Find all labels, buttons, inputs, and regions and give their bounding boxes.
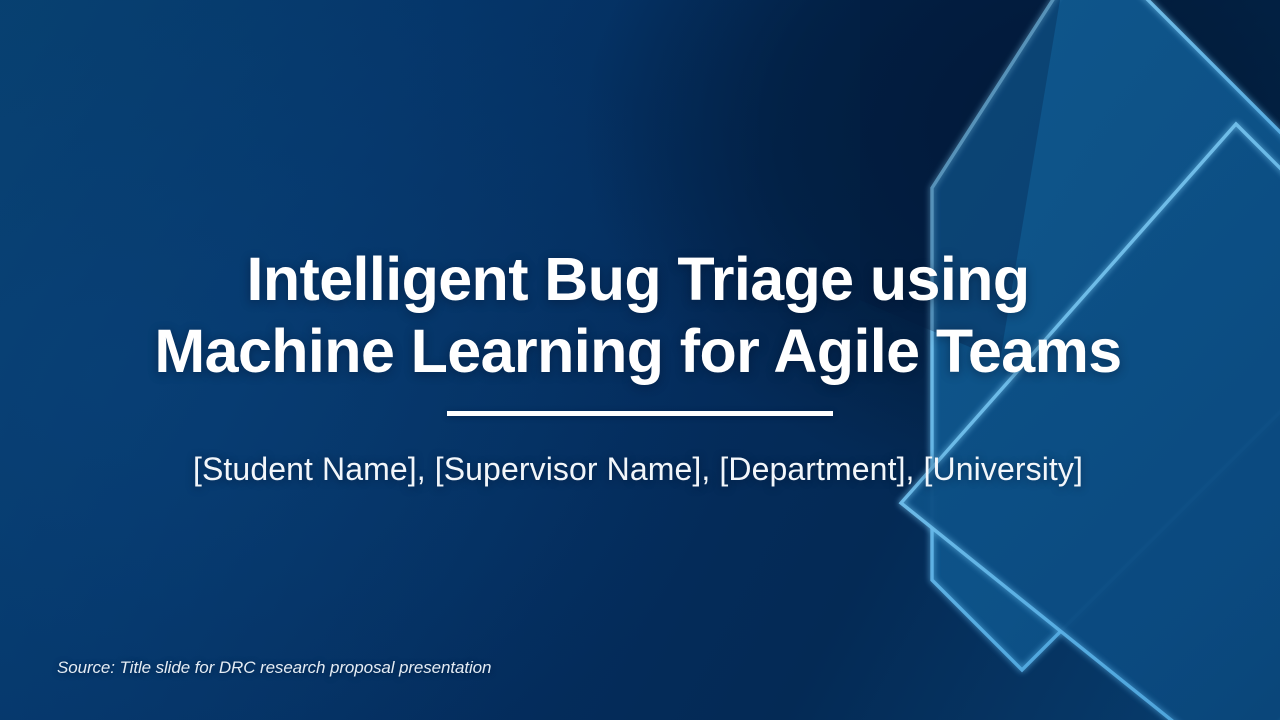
source-caption: Source: Title slide for DRC research pro… [57,657,491,679]
slide-subtitle: [Student Name], [Supervisor Name], [Depa… [120,448,1156,490]
page-title: Intelligent Bug Triage using Machine Lea… [120,243,1156,387]
title-slide: Intelligent Bug Triage using Machine Lea… [0,0,1280,720]
title-divider [447,411,833,416]
slide-content: Intelligent Bug Triage using Machine Lea… [0,0,1280,720]
